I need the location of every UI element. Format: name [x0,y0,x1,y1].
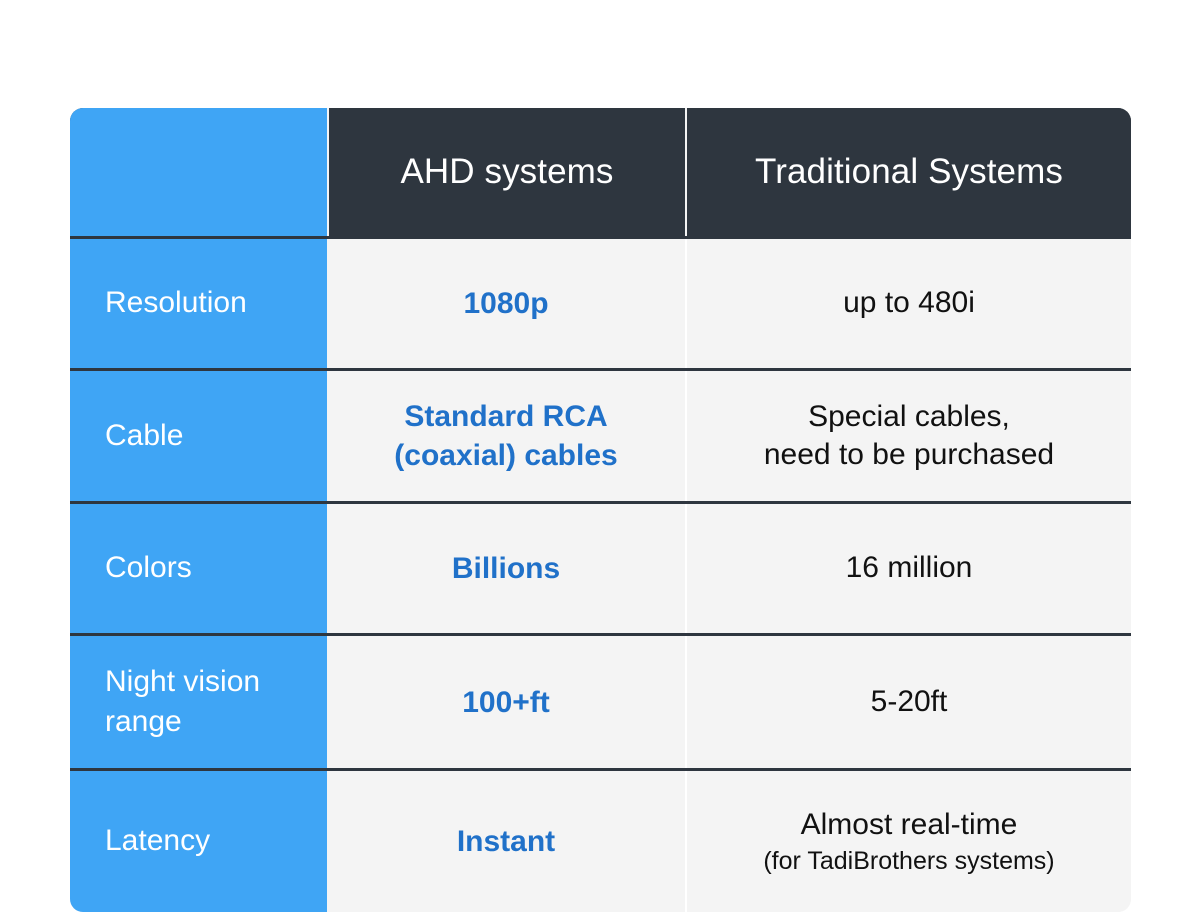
cell-ahd-colors: Billions [327,504,687,633]
cell-text-line1: Almost real-time [763,806,1054,844]
table-header-row: AHD systems Traditional Systems [70,108,1131,236]
cell-traditional-latency: Almost real-time (for TadiBrothers syste… [687,771,1131,912]
row-label-latency: Latency [70,771,327,912]
cell-text-line1: Standard RCA [394,397,617,436]
cell-text-line1: Special cables, [764,398,1054,436]
table-row: Resolution 1080p up to 480i [70,236,1131,368]
cell-text-line1: Billions [452,549,560,588]
table-row: Night vision range 100+ft 5-20ft [70,633,1131,768]
table-row: Latency Instant Almost real-time (for Ta… [70,768,1131,912]
header-cell-traditional: Traditional Systems [687,108,1131,236]
header-cell-spacer [70,108,327,236]
table-row: Colors Billions 16 million [70,501,1131,633]
cell-traditional-colors: 16 million [687,504,1131,633]
row-label-cable: Cable [70,371,327,501]
row-label-resolution: Resolution [70,239,327,368]
cell-ahd-cable: Standard RCA (coaxial) cables [327,371,687,501]
cell-text-line1: 16 million [846,549,973,587]
header-cell-ahd: AHD systems [327,108,687,236]
cell-text-line2: need to be purchased [764,436,1054,474]
cell-ahd-night-vision-range: 100+ft [327,636,687,768]
cell-traditional-resolution: up to 480i [687,239,1131,368]
cell-text-line1: Instant [457,822,555,861]
cell-text-line1: 1080p [463,284,548,323]
cell-ahd-latency: Instant [327,771,687,912]
table-row: Cable Standard RCA (coaxial) cables Spec… [70,368,1131,501]
cell-text-line2: (for TadiBrothers systems) [763,845,1054,877]
row-label-night-vision-range: Night vision range [70,636,327,768]
page-canvas: AHD systems Traditional Systems Resoluti… [0,0,1200,922]
cell-ahd-resolution: 1080p [327,239,687,368]
cell-text-line1: up to 480i [843,284,975,322]
cell-text-line2: (coaxial) cables [394,436,617,475]
cell-text-line1: 5-20ft [871,683,948,721]
cell-traditional-night-vision-range: 5-20ft [687,636,1131,768]
row-label-colors: Colors [70,504,327,633]
comparison-table: AHD systems Traditional Systems Resoluti… [70,108,1131,912]
cell-traditional-cable: Special cables, need to be purchased [687,371,1131,501]
cell-text-line1: 100+ft [462,683,550,722]
